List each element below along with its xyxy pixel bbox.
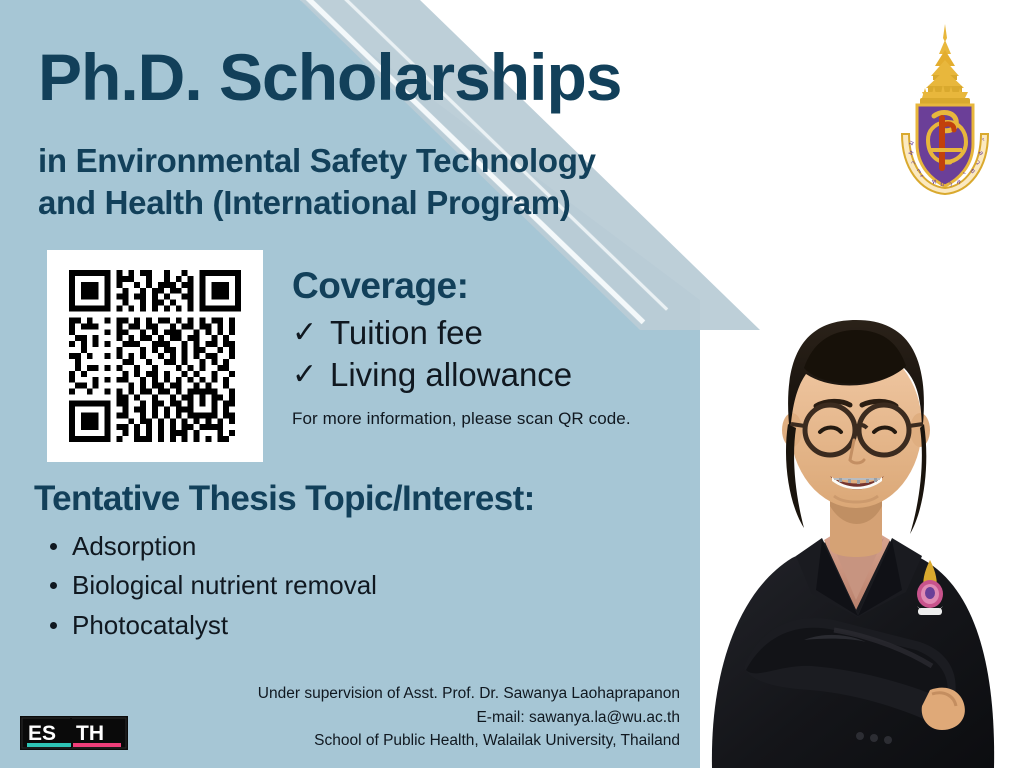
supervisor-line: Under supervision of Asst. Prof. Dr. Saw… [210, 682, 680, 706]
list-item: Photocatalyst [72, 606, 694, 646]
coverage-item: ✓ Tuition fee [292, 313, 692, 353]
coverage-item-label: Tuition fee [330, 313, 483, 353]
qr-code [69, 270, 241, 442]
subtitle-line-2: and Health (International Program) [38, 182, 798, 224]
coverage-section: Coverage: ✓ Tuition fee ✓ Living allowan… [292, 266, 692, 429]
check-icon: ✓ [292, 318, 316, 348]
qr-instruction-text: For more information, please scan QR cod… [292, 409, 692, 429]
coverage-item-label: Living allowance [330, 355, 572, 395]
check-icon: ✓ [292, 360, 316, 390]
thesis-topics-section: Tentative Thesis Topic/Interest: Adsorpt… [34, 480, 694, 645]
esth-logo: ES TH [18, 712, 130, 754]
coverage-item: ✓ Living allowance [292, 355, 692, 395]
list-item: Biological nutrient removal [72, 566, 694, 606]
thesis-heading: Tentative Thesis Topic/Interest: [34, 480, 694, 519]
footer-contact-block: Under supervision of Asst. Prof. Dr. Saw… [210, 682, 680, 753]
esth-logo-part-1: ES [28, 722, 56, 745]
thesis-topic-list: Adsorption Biological nutrient removal P… [34, 527, 694, 646]
scholarship-poster: ม ห า ว ิ ท ย า ล ั ย ว ล ั Ph.D. Schola… [0, 0, 1024, 768]
subtitle-line-1: in Environmental Safety Technology [38, 140, 798, 182]
page-title: Ph.D. Scholarships [38, 44, 868, 110]
esth-logo-part-2: TH [76, 722, 104, 745]
walailak-university-emblem: ม ห า ว ิ ท ย า ล ั ย ว ล ั [884, 22, 1006, 197]
page-subtitle: in Environmental Safety Technology and H… [38, 140, 798, 224]
email-line: E-mail: sawanya.la@wu.ac.th [210, 706, 680, 730]
list-item: Adsorption [72, 527, 694, 567]
coverage-heading: Coverage: [292, 266, 692, 307]
svg-text:ย: ย [940, 180, 944, 188]
qr-code-card[interactable] [47, 250, 263, 462]
supervisor-portrait-photo [684, 238, 1014, 768]
institution-line: School of Public Health, Walailak Univer… [210, 729, 680, 753]
